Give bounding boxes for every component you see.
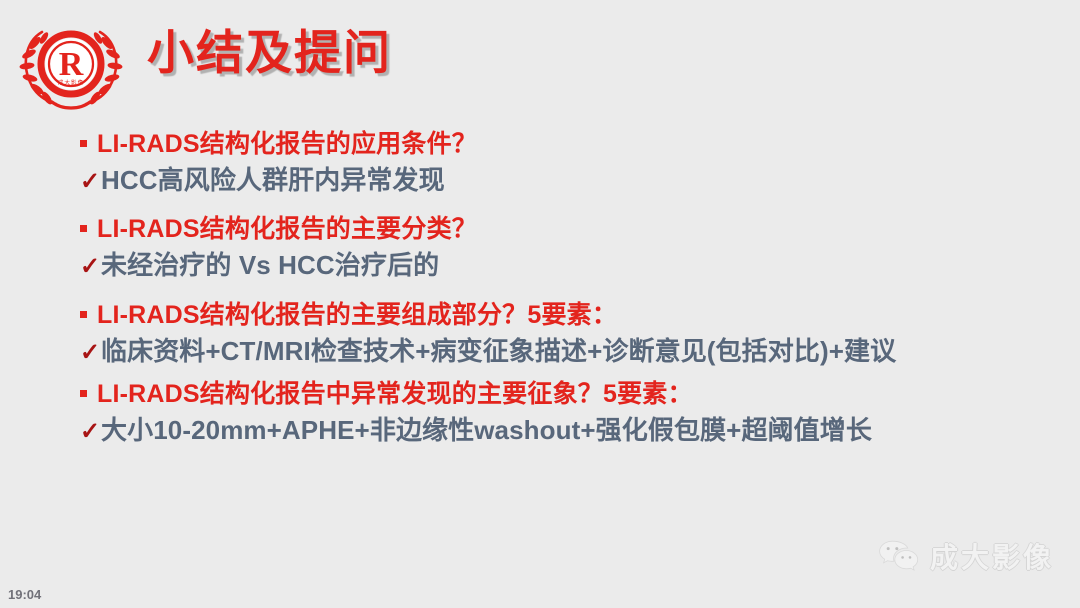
watermark-text: 成大影像 [930,536,1054,576]
answer-line: ✓ 大小10-20mm+APHE+非边缘性washout+强化假包膜+超阈值增长 [80,414,1040,447]
svg-text:R: R [59,46,84,83]
qa-group-2: LI-RADS结构化报告的主要分类？ [80,213,1040,245]
institution-logo: R 成大影像 [12,14,130,110]
qa-group-4: LI-RADS结构化报告中异常发现的主要征象？5要素： [80,378,1040,410]
check-icon: ✓ [80,255,101,279]
check-icon: ✓ [80,170,101,194]
question-line: LI-RADS结构化报告中异常发现的主要征象？5要素： [80,378,1040,410]
answer-text: 大小10-20mm+APHE+非边缘性washout+强化假包膜+超阈值增长 [101,414,872,447]
wechat-icon [878,539,920,573]
square-bullet-icon [80,225,97,232]
answer-line: ✓ HCC高风险人群肝内异常发现 [80,164,1040,197]
square-bullet-icon [80,311,97,318]
svg-text:成大影像: 成大影像 [58,79,84,87]
answer-text: 临床资料+CT/MRI检查技术+病变征象描述+诊断意见(包括对比)+建议 [101,335,896,368]
qa-group-1: LI-RADS结构化报告的应用条件？ [80,128,1040,160]
qa-group-4-answer: ✓ 大小10-20mm+APHE+非边缘性washout+强化假包膜+超阈值增长 [80,414,1040,447]
question-line: LI-RADS结构化报告的主要分类？ [80,213,1040,245]
answer-text: HCC高风险人群肝内异常发现 [101,164,445,197]
question-line: LI-RADS结构化报告的应用条件？ [80,128,1040,160]
answer-line: ✓ 未经治疗的 Vs HCC治疗后的 [80,249,1040,282]
answer-line: ✓ 临床资料+CT/MRI检查技术+病变征象描述+诊断意见(包括对比)+建议 [80,335,1040,368]
page-title: 小结及提问 [147,27,392,80]
square-bullet-icon [80,140,97,147]
qa-group-1-answer: ✓ HCC高风险人群肝内异常发现 [80,164,1040,197]
question-text: LI-RADS结构化报告中异常发现的主要征象？5要素： [97,378,693,410]
square-bullet-icon [80,390,97,397]
video-timestamp: 19:04 [8,587,41,602]
slide-header: R 成大影像 小结及提问 [0,0,1080,118]
check-icon: ✓ [80,341,101,365]
presentation-slide: R 成大影像 小结及提问 LI-RADS结构化报告的应用条件？ ✓ HCC高风险… [0,0,1080,608]
question-line: LI-RADS结构化报告的主要组成部分？5要素： [80,299,1040,331]
check-icon: ✓ [80,420,101,444]
qa-group-2-answer: ✓ 未经治疗的 Vs HCC治疗后的 [80,249,1040,282]
qa-group-3: LI-RADS结构化报告的主要组成部分？5要素： [80,299,1040,331]
question-text: LI-RADS结构化报告的应用条件？ [97,128,477,160]
answer-text: 未经治疗的 Vs HCC治疗后的 [101,249,439,282]
question-text: LI-RADS结构化报告的主要分类？ [97,213,477,245]
question-text: LI-RADS结构化报告的主要组成部分？5要素： [97,299,617,331]
qa-group-3-answer: ✓ 临床资料+CT/MRI检查技术+病变征象描述+诊断意见(包括对比)+建议 [80,335,1040,368]
wechat-watermark: 成大影像 [878,536,1054,576]
summary-list: LI-RADS结构化报告的应用条件？ ✓ HCC高风险人群肝内异常发现 LI-R… [80,128,1040,463]
